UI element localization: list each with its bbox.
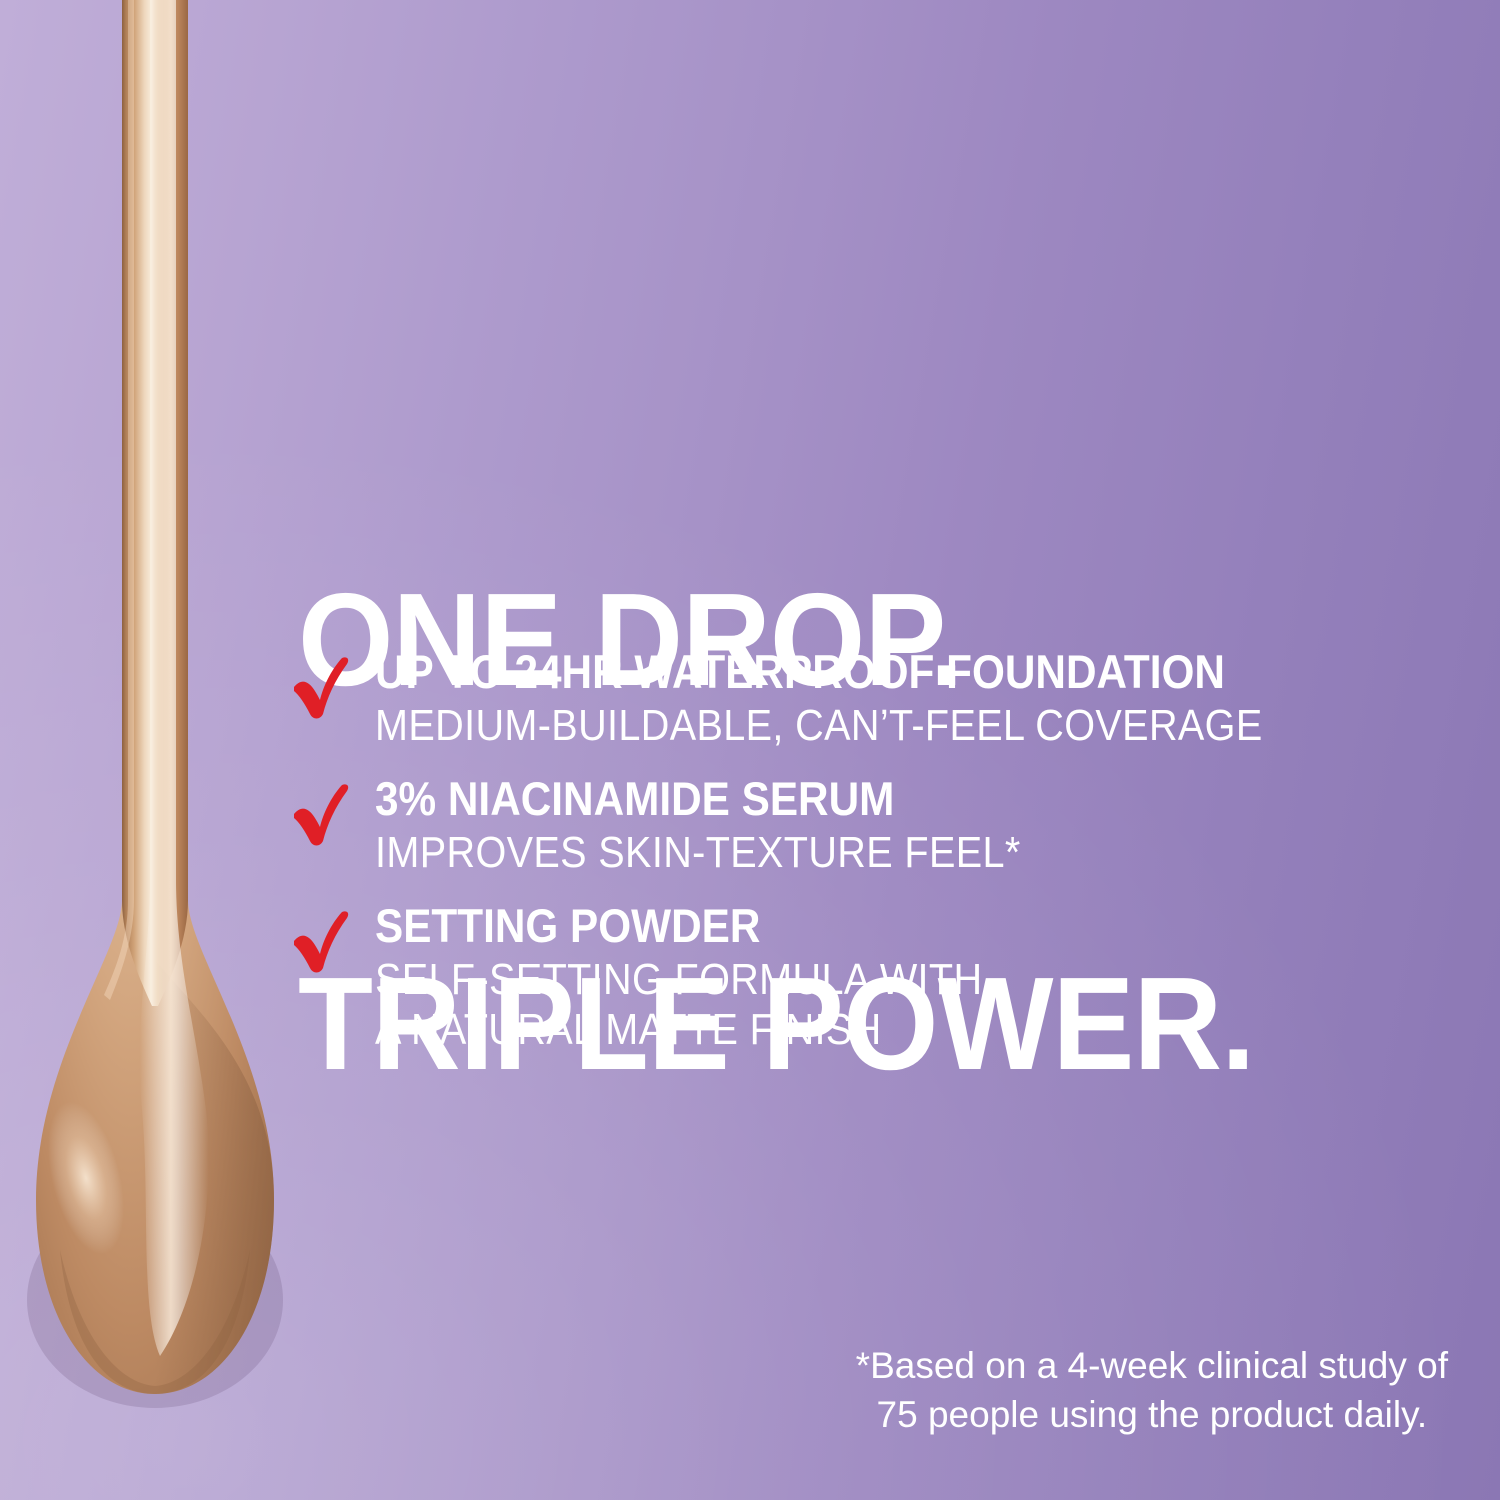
list-item: 3% NIACINAMIDE SERUM IMPROVES SKIN-TEXTU… [290, 775, 1480, 878]
list-item-subtitle: SELF-SETTING FORMULA WITH A NATURAL MATT… [375, 955, 1370, 1055]
list-item-title: 3% NIACINAMIDE SERUM [375, 775, 1370, 824]
red-check-icon [290, 783, 352, 847]
list-item-subtitle: IMPROVES SKIN-TEXTURE FEEL* [375, 828, 1370, 878]
list-item: SETTING POWDER SELF-SETTING FORMULA WITH… [290, 902, 1480, 1055]
red-check-icon [290, 910, 352, 974]
feature-list: UP TO 24HR WATERPROOF FOUNDATION MEDIUM-… [290, 648, 1480, 1079]
red-check-icon [290, 656, 352, 720]
footnote-disclaimer: *Based on a 4-week clinical study of 75 … [856, 1342, 1448, 1440]
list-item-title: SETTING POWDER [375, 902, 1370, 951]
list-item: UP TO 24HR WATERPROOF FOUNDATION MEDIUM-… [290, 648, 1480, 751]
list-item-title: UP TO 24HR WATERPROOF FOUNDATION [375, 648, 1370, 697]
product-marketing-poster: ONE DROP. TRIPLE POWER. UP TO 24HR WATER… [0, 0, 1500, 1500]
list-item-subtitle: MEDIUM-BUILDABLE, CAN’T-FEEL COVERAGE [375, 701, 1370, 751]
poster-content: ONE DROP. TRIPLE POWER. UP TO 24HR WATER… [0, 0, 1500, 1500]
